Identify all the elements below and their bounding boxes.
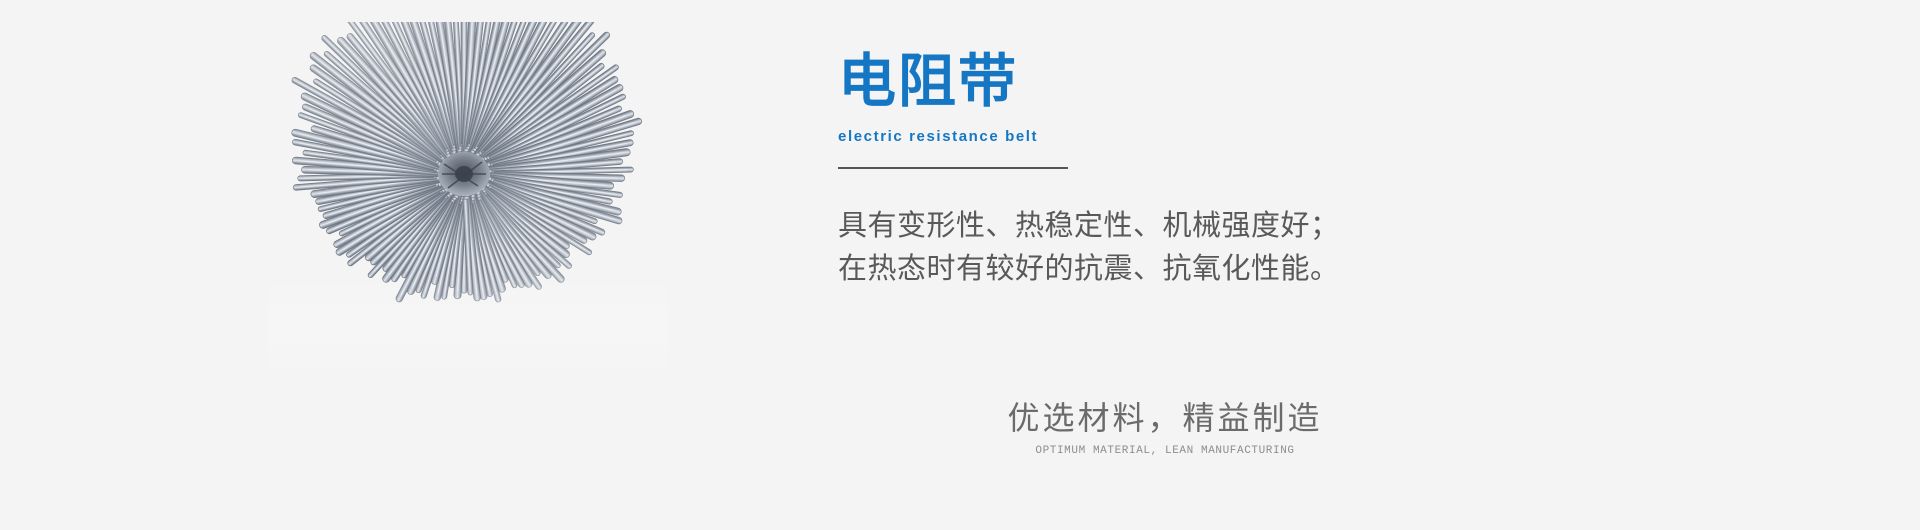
product-image xyxy=(268,22,668,382)
tagline-chinese: 优选材料，精益制造 xyxy=(955,398,1375,438)
product-description: 具有变形性、热稳定性、机械强度好； 在热态时有较好的抗震、抗氧化性能。 xyxy=(838,205,1538,291)
text-column: 电阻带 electric resistance belt 具有变形性、热稳定性、… xyxy=(838,50,1538,291)
bundle-core-wire xyxy=(438,152,490,196)
product-banner: 电阻带 electric resistance belt 具有变形性、热稳定性、… xyxy=(0,0,1920,530)
title-divider xyxy=(838,167,1068,169)
tagline-block: 优选材料，精益制造 OPTIMUM MATERIAL, LEAN MANUFAC… xyxy=(955,398,1375,458)
description-line-2: 在热态时有较好的抗震、抗氧化性能。 xyxy=(838,248,1538,291)
description-line-1: 具有变形性、热稳定性、机械强度好； xyxy=(838,205,1538,248)
page-subtitle-english: electric resistance belt xyxy=(838,126,1538,148)
page-title: 电阻带 xyxy=(838,50,1538,114)
tagline-english: OPTIMUM MATERIAL, LEAN MANUFACTURING xyxy=(955,444,1375,458)
